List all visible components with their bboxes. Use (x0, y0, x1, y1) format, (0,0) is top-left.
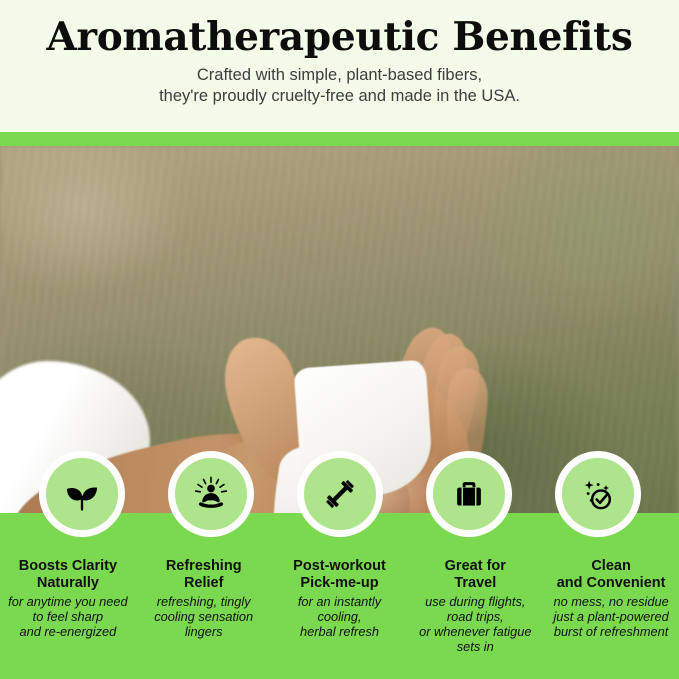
benefit-title-5-line-1: Clean (591, 558, 631, 574)
benefit-icon-circle-5 (555, 451, 641, 537)
benefit-icon-circle-3 (297, 451, 383, 537)
benefit-title-3: Post-workout Pick-me-up (278, 558, 402, 592)
benefit-desc-4-line-1: use during flights, (425, 594, 525, 609)
benefit-item-4: Great for Travel use during flights, roa… (407, 558, 543, 654)
benefit-title-2-line-2: Relief (184, 575, 224, 591)
benefit-desc-3: for an instantly cooling, herbal refresh (278, 594, 402, 639)
benefit-desc-4-line-4: sets in (457, 639, 494, 654)
benefit-item-3: Post-workout Pick-me-up for an instantly… (272, 558, 408, 654)
benefit-desc-1-line-2: to feel sharp (33, 609, 103, 624)
benefit-title-3-line-2: Pick-me-up (300, 575, 378, 591)
benefit-item-2: Refreshing Relief refreshing, tingly coo… (136, 558, 272, 654)
benefit-title-3-line-1: Post-workout (293, 558, 386, 574)
benefit-desc-2-line-3: lingers (185, 624, 223, 639)
benefit-icon-circle-1 (39, 451, 125, 537)
benefit-desc-3-line-3: herbal refresh (300, 624, 379, 639)
benefit-desc-5-line-3: burst of refreshment (554, 624, 669, 639)
benefit-desc-2-line-1: refreshing, tingly (157, 594, 251, 609)
benefit-title-4-line-1: Great for (445, 558, 506, 574)
subtitle-line-1: Crafted with simple, plant-based fibers, (0, 65, 679, 86)
benefit-icon-circle-4 (426, 451, 512, 537)
benefit-desc-5-line-1: no mess, no residue (553, 594, 668, 609)
benefit-desc-4-line-3: or whenever fatigue (419, 624, 531, 639)
sprout-icon (62, 474, 102, 514)
benefit-desc-5: no mess, no residue just a plant-powered… (549, 594, 673, 639)
header-section: Aromatherapeutic Benefits Crafted with s… (0, 0, 679, 132)
benefit-text-row: Boosts Clarity Naturally for anytime you… (0, 558, 679, 654)
benefit-desc-1: for anytime you need to feel sharp and r… (6, 594, 130, 639)
benefit-title-2: Refreshing Relief (142, 558, 266, 592)
dumbbell-icon (320, 474, 360, 514)
benefit-title-1: Boosts Clarity Naturally (6, 558, 130, 592)
benefit-title-4: Great for Travel (413, 558, 537, 592)
benefit-desc-1-line-1: for anytime you need (8, 594, 128, 609)
benefit-icon-circle-2 (168, 451, 254, 537)
benefit-title-1-line-1: Boosts Clarity (19, 558, 117, 574)
benefit-item-1: Boosts Clarity Naturally for anytime you… (0, 558, 136, 654)
benefit-title-5: Clean and Convenient (549, 558, 673, 592)
subtitle-line-2: they're proudly cruelty-free and made in… (0, 86, 679, 107)
benefit-title-4-line-2: Travel (454, 575, 496, 591)
sparkle-check-icon (578, 474, 618, 514)
benefit-item-5: Clean and Convenient no mess, no residue… (543, 558, 679, 654)
benefit-title-2-line-1: Refreshing (166, 558, 242, 574)
benefit-desc-4-line-2: road trips, (447, 609, 504, 624)
page-subtitle: Crafted with simple, plant-based fibers,… (0, 65, 679, 107)
benefit-desc-1-line-3: and re-energized (20, 624, 117, 639)
benefit-title-1-line-2: Naturally (37, 575, 99, 591)
benefit-title-5-line-2: and Convenient (557, 575, 666, 591)
benefit-icons-row (0, 451, 679, 553)
aromatherapeutic-benefits-infographic: Aromatherapeutic Benefits Crafted with s… (0, 0, 679, 679)
benefit-desc-4: use during flights, road trips, or whene… (413, 594, 537, 654)
benefit-desc-3-line-1: for an instantly (298, 594, 381, 609)
benefit-desc-3-line-2: cooling, (317, 609, 361, 624)
suitcase-icon (450, 475, 488, 513)
green-divider-band (0, 132, 679, 146)
benefit-desc-2-line-2: cooling sensation (154, 609, 253, 624)
meditation-icon (191, 474, 231, 514)
page-title: Aromatherapeutic Benefits (0, 14, 679, 60)
benefit-desc-2: refreshing, tingly cooling sensation lin… (142, 594, 266, 639)
benefit-desc-5-line-2: just a plant-powered (553, 609, 668, 624)
